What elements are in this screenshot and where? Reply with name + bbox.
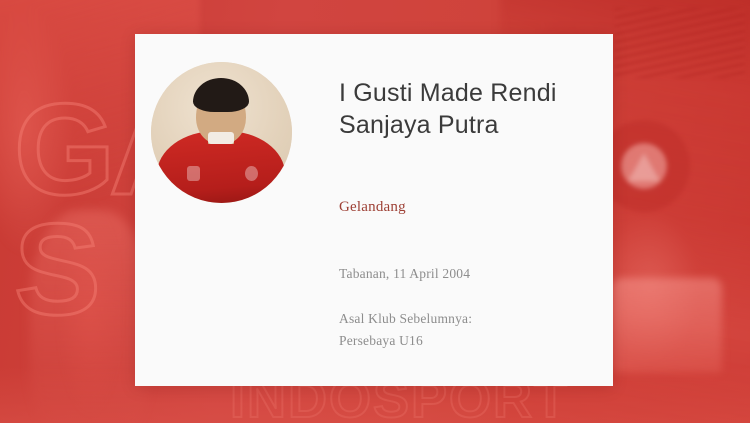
player-info-column: I Gusti Made Rendi Sanjaya Putra Gelanda…: [307, 34, 613, 352]
avatar-jersey-badge-left: [187, 166, 200, 181]
player-photo-column: [135, 34, 307, 203]
previous-club-label: Asal Klub Sebelumnya:: [339, 308, 591, 330]
background-right-shorts: [612, 278, 722, 373]
player-birth-info: Tabanan, 11 April 2004: [339, 266, 591, 282]
player-position: Gelandang: [339, 199, 591, 216]
player-avatar: [151, 62, 292, 203]
previous-club-value: Persebaya U16: [339, 330, 591, 352]
avatar-collar: [208, 132, 234, 144]
player-card: I Gusti Made Rendi Sanjaya Putra Gelanda…: [135, 34, 613, 386]
background-right-jersey-stripes: [615, 8, 745, 78]
player-previous-club: Asal Klub Sebelumnya: Persebaya U16: [339, 308, 591, 352]
player-profile-graphic: GA S INDOSPORT I Gusti Made Rendi Sanjay…: [0, 0, 750, 423]
avatar-jersey-badge-right: [245, 166, 258, 181]
player-name: I Gusti Made Rendi Sanjaya Putra: [339, 78, 591, 141]
watermark-letters-secondary: S: [14, 216, 95, 323]
